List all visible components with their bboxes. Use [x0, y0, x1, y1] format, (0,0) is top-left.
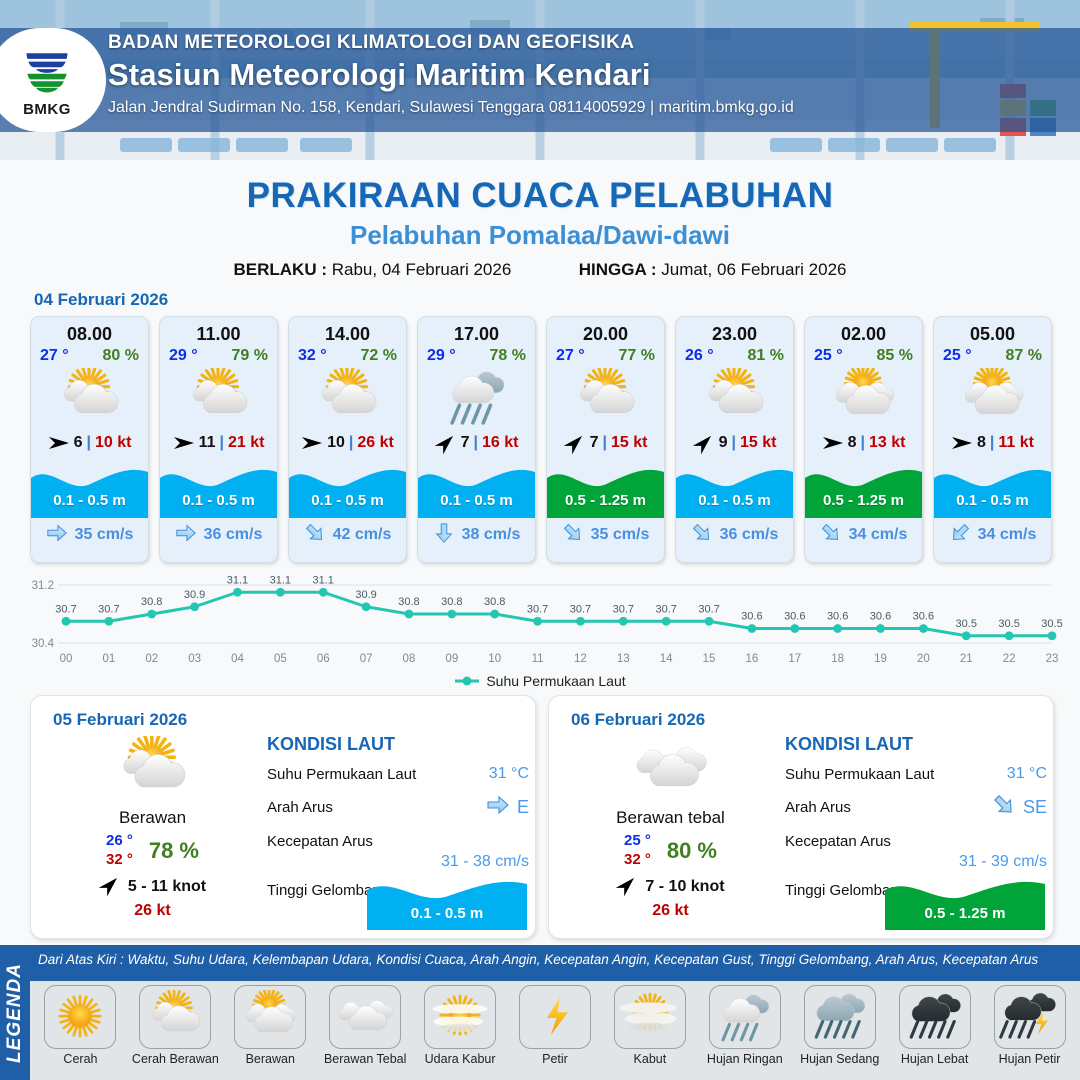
- hujan-ringan-icon: [418, 366, 535, 428]
- panel-current-dir-value: SE: [992, 793, 1047, 822]
- card-humidity: 77 %: [619, 347, 655, 365]
- card-separator: |: [473, 434, 477, 452]
- card-time: 14.00: [289, 324, 406, 345]
- panel-wave-value: 0.5 - 1.25 m: [885, 905, 1045, 922]
- svg-text:30.7: 30.7: [55, 603, 76, 615]
- card-temperature: 27 °: [556, 347, 585, 365]
- svg-text:30.9: 30.9: [184, 589, 205, 601]
- svg-text:16: 16: [746, 653, 759, 665]
- sst-chart: 31.230.430.70030.70130.80230.90331.10431…: [14, 571, 1066, 671]
- card-time: 23.00: [676, 324, 793, 345]
- panel-wind-direction-icon: [616, 876, 638, 899]
- daily-forecast-row: 05 Februari 2026 Berawan 26 ° 32 ° 78 % …: [0, 689, 1080, 939]
- svg-text:10: 10: [488, 653, 501, 665]
- svg-text:30.7: 30.7: [527, 603, 548, 615]
- panel-gust: 26 kt: [45, 902, 260, 920]
- legend-item: Berawan: [224, 985, 317, 1080]
- cerah-berawan-icon: [547, 366, 664, 428]
- panel-wind-direction-icon: [99, 876, 121, 899]
- panel-current-direction-icon: [486, 793, 510, 822]
- hujan-petir-icon: [994, 985, 1066, 1049]
- svg-text:22: 22: [1003, 653, 1016, 665]
- panel-temp-min: 25 °: [624, 832, 651, 851]
- card-current-speed: 36 cm/s: [720, 526, 779, 544]
- panel-current-speed-label: Kecepatan Arus: [785, 833, 891, 850]
- legend-item: Kabut: [603, 985, 696, 1080]
- card-current: 36 cm/s: [160, 518, 277, 552]
- card-current-speed: 35 cm/s: [75, 526, 134, 544]
- svg-text:31.2: 31.2: [32, 580, 54, 592]
- header-station-name: Stasiun Meteorologi Maritim Kendari: [108, 57, 928, 93]
- berawan-icon: [934, 366, 1051, 428]
- legend-item: Cerah Berawan: [129, 985, 222, 1080]
- card-current-speed: 35 cm/s: [591, 526, 650, 544]
- panel-date: 05 Februari 2026: [53, 710, 187, 730]
- card-humidity: 87 %: [1006, 347, 1042, 365]
- svg-text:20: 20: [917, 653, 930, 665]
- svg-text:30.8: 30.8: [484, 596, 505, 608]
- cerah-berawan-icon: [160, 366, 277, 428]
- legend-item-label: Berawan Tebal: [319, 1052, 412, 1066]
- wind-direction-icon: [301, 434, 323, 452]
- legend-item-label: Hujan Sedang: [793, 1052, 886, 1066]
- card-gust: 15 kt: [611, 434, 647, 452]
- card-time: 17.00: [418, 324, 535, 345]
- svg-text:30.8: 30.8: [398, 596, 419, 608]
- legend-item-label: Udara Kabur: [414, 1052, 507, 1066]
- card-temperature: 29 °: [427, 347, 456, 365]
- card-temperature: 32 °: [298, 347, 327, 365]
- wind-direction-icon: [564, 434, 586, 452]
- berawan-icon: [234, 985, 306, 1049]
- legend-note: Dari Atas Kiri : Waktu, Suhu Udara, Kele…: [38, 952, 1076, 967]
- card-humidity: 78 %: [490, 347, 526, 365]
- card-wind-speed: 10: [327, 434, 345, 452]
- svg-text:13: 13: [617, 653, 630, 665]
- forecast-card: 14.00 32 ° 72 % 10 | 26 kt 0.1 - 0.5 m 4…: [288, 316, 407, 563]
- card-time: 02.00: [805, 324, 922, 345]
- svg-text:19: 19: [874, 653, 887, 665]
- card-time: 05.00: [934, 324, 1051, 345]
- card-separator: |: [349, 434, 353, 452]
- card-current: 35 cm/s: [31, 518, 148, 552]
- legend-item-label: Cerah: [34, 1052, 127, 1066]
- card-wave-height: 0.1 - 0.5 m: [418, 492, 535, 509]
- current-direction-icon: [433, 522, 455, 549]
- legend-item: Hujan Lebat: [888, 985, 981, 1080]
- panel-wind-speed: 5 - 11 knot: [128, 878, 206, 896]
- svg-text:21: 21: [960, 653, 973, 665]
- card-current-speed: 34 cm/s: [849, 526, 908, 544]
- card-gust: 15 kt: [740, 434, 776, 452]
- card-wave-height: 0.1 - 0.5 m: [289, 492, 406, 509]
- legend-item-label: Hujan Ringan: [698, 1052, 791, 1066]
- svg-text:30.5: 30.5: [956, 618, 977, 630]
- card-wave: 0.1 - 0.5 m: [934, 460, 1051, 518]
- svg-text:30.6: 30.6: [784, 611, 805, 623]
- hujan-sedang-icon: [804, 985, 876, 1049]
- svg-text:30.7: 30.7: [655, 603, 676, 615]
- card-time: 11.00: [160, 324, 277, 345]
- svg-text:15: 15: [703, 653, 716, 665]
- card-wind: 7 | 15 kt: [547, 432, 664, 454]
- card-wave-height: 0.5 - 1.25 m: [547, 492, 664, 509]
- card-wind: 7 | 16 kt: [418, 432, 535, 454]
- card-wave: 0.1 - 0.5 m: [31, 460, 148, 518]
- panel-current-dir-value: E: [486, 793, 529, 822]
- panel-humidity: 78 %: [149, 838, 199, 864]
- card-wind-speed: 7: [461, 434, 470, 452]
- panel-current-dir-text: SE: [1023, 797, 1047, 818]
- daily-forecast-panel: 05 Februari 2026 Berawan 26 ° 32 ° 78 % …: [30, 695, 536, 939]
- card-time: 20.00: [547, 324, 664, 345]
- panel-current-speed-label: Kecepatan Arus: [267, 833, 373, 850]
- svg-text:30.6: 30.6: [827, 611, 848, 623]
- card-wind-speed: 8: [848, 434, 857, 452]
- card-separator: |: [990, 434, 994, 452]
- panel-current-speed-value: 31 - 39 cm/s: [785, 853, 1047, 871]
- legend-item-label: Cerah Berawan: [129, 1052, 222, 1066]
- card-temperature: 29 °: [169, 347, 198, 365]
- card-separator: |: [731, 434, 735, 452]
- page-subtitle: Pelabuhan Pomalaa/Dawi-dawi: [0, 220, 1080, 251]
- forecast-card: 23.00 26 ° 81 % 9 | 15 kt 0.1 - 0.5 m 36…: [675, 316, 794, 563]
- panel-sea-title: KONDISI LAUT: [785, 734, 1047, 755]
- panel-sst-label: Suhu Permukaan Laut: [267, 766, 416, 783]
- svg-text:17: 17: [788, 653, 801, 665]
- card-wind-speed: 6: [74, 434, 83, 452]
- svg-text:30.4: 30.4: [32, 638, 55, 650]
- panel-wave: 0.5 - 1.25 m: [885, 878, 1045, 930]
- card-current: 36 cm/s: [676, 518, 793, 552]
- card-separator: |: [86, 434, 90, 452]
- sst-chart-legend: Suhu Permukaan Laut: [0, 673, 1080, 689]
- legend-item: Hujan Ringan: [698, 985, 791, 1080]
- forecast-card: 17.00 29 ° 78 % 7 | 16 kt 0.1 - 0.5 m 38…: [417, 316, 536, 563]
- card-wind-speed: 9: [719, 434, 728, 452]
- card-wave-height: 0.1 - 0.5 m: [31, 492, 148, 509]
- svg-text:11: 11: [532, 653, 544, 665]
- bmkg-logo: BMKG: [0, 28, 106, 132]
- panel-condition: Berawan tebal: [563, 808, 778, 828]
- card-gust: 10 kt: [95, 434, 131, 452]
- card-temperature: 25 °: [814, 347, 843, 365]
- berawan-icon: [805, 366, 922, 428]
- svg-text:30.7: 30.7: [570, 603, 591, 615]
- forecast-card: 05.00 25 ° 87 % 8 | 11 kt 0.1 - 0.5 m 34…: [933, 316, 1052, 563]
- forecast-card: 08.00 27 ° 80 % 6 | 10 kt 0.1 - 0.5 m 35…: [30, 316, 149, 563]
- svg-text:02: 02: [145, 653, 158, 665]
- legend-item: Cerah: [34, 985, 127, 1080]
- berawan-tebal-icon: [329, 985, 401, 1049]
- cerah-berawan-icon: [45, 736, 260, 802]
- card-current: 34 cm/s: [805, 518, 922, 552]
- petir-icon: [519, 985, 591, 1049]
- card-gust: 26 kt: [357, 434, 393, 452]
- panel-current-direction-icon: [992, 793, 1016, 822]
- card-wave: 0.5 - 1.25 m: [805, 460, 922, 518]
- current-direction-icon: [562, 522, 584, 549]
- panel-sea-title: KONDISI LAUT: [267, 734, 529, 755]
- panel-wave: 0.1 - 0.5 m: [367, 878, 527, 930]
- svg-text:07: 07: [360, 653, 373, 665]
- legend-side-title: LEGENDA: [0, 945, 30, 1080]
- legend-item-label: Hujan Petir: [983, 1052, 1076, 1066]
- panel-wind-speed: 7 - 10 knot: [645, 878, 724, 896]
- berawan-tebal-icon: [563, 736, 778, 802]
- card-gust: 16 kt: [482, 434, 518, 452]
- card-wave-height: 0.1 - 0.5 m: [676, 492, 793, 509]
- card-separator: |: [219, 434, 223, 452]
- current-direction-icon: [175, 522, 197, 549]
- svg-text:31.1: 31.1: [270, 574, 291, 586]
- svg-text:30.7: 30.7: [613, 603, 634, 615]
- wind-direction-icon: [951, 434, 973, 452]
- card-separator: |: [602, 434, 606, 452]
- cerah-berawan-icon: [676, 366, 793, 428]
- svg-text:30.7: 30.7: [698, 603, 719, 615]
- berlaku-value: Rabu, 04 Februari 2026: [332, 260, 512, 279]
- card-current: 42 cm/s: [289, 518, 406, 552]
- sst-chart-svg: 31.230.430.70030.70130.80230.90331.10431…: [14, 571, 1066, 671]
- card-humidity: 72 %: [361, 347, 397, 365]
- card-humidity: 85 %: [877, 347, 913, 365]
- svg-text:01: 01: [102, 653, 115, 665]
- hujan-lebat-icon: [899, 985, 971, 1049]
- panel-current-dir-text: E: [517, 797, 529, 818]
- forecast-card: 20.00 27 ° 77 % 7 | 15 kt 0.5 - 1.25 m 3…: [546, 316, 665, 563]
- panel-sst-label: Suhu Permukaan Laut: [785, 766, 934, 783]
- svg-text:31.1: 31.1: [227, 574, 248, 586]
- card-wind: 11 | 21 kt: [160, 432, 277, 454]
- bmkg-logo-icon: [19, 42, 75, 100]
- forecast-date-label: 04 Februari 2026: [34, 290, 1080, 310]
- card-current-speed: 36 cm/s: [204, 526, 263, 544]
- card-time: 08.00: [31, 324, 148, 345]
- card-wind: 9 | 15 kt: [676, 432, 793, 454]
- wind-direction-icon: [48, 434, 70, 452]
- svg-text:30.6: 30.6: [870, 611, 891, 623]
- card-current-speed: 34 cm/s: [978, 526, 1037, 544]
- header-address: Jalan Jendral Sudirman No. 158, Kendari,…: [108, 99, 928, 117]
- svg-text:03: 03: [188, 653, 201, 665]
- legend-item: Berawan Tebal: [319, 985, 412, 1080]
- card-wave-height: 0.5 - 1.25 m: [805, 492, 922, 509]
- panel-sst-value: 31 °C: [489, 765, 529, 783]
- panel-current-dir-label: Arah Arus: [785, 799, 851, 816]
- card-wind: 10 | 26 kt: [289, 432, 406, 454]
- panel-current-dir-label: Arah Arus: [267, 799, 333, 816]
- bmkg-logo-text: BMKG: [23, 101, 71, 118]
- legend-section: LEGENDA Dari Atas Kiri : Waktu, Suhu Uda…: [0, 945, 1080, 1080]
- panel-humidity: 80 %: [667, 838, 717, 864]
- cerah-berawan-icon: [139, 985, 211, 1049]
- svg-text:08: 08: [403, 653, 416, 665]
- svg-text:12: 12: [574, 653, 587, 665]
- forecast-card: 02.00 25 ° 85 % 8 | 13 kt 0.5 - 1.25 m 3…: [804, 316, 923, 563]
- hingga-label: HINGGA :: [579, 260, 657, 279]
- svg-text:30.5: 30.5: [1041, 618, 1062, 630]
- svg-text:30.9: 30.9: [355, 589, 376, 601]
- wind-direction-icon: [822, 434, 844, 452]
- header-organization: BADAN METEOROLOGI KLIMATOLOGI DAN GEOFIS…: [108, 32, 928, 54]
- legend-item-label: Hujan Lebat: [888, 1052, 981, 1066]
- card-wind: 8 | 13 kt: [805, 432, 922, 454]
- card-wave-height: 0.1 - 0.5 m: [934, 492, 1051, 509]
- panel-date: 06 Februari 2026: [571, 710, 705, 730]
- legend-item: Udara Kabur: [414, 985, 507, 1080]
- card-gust: 11 kt: [998, 434, 1034, 452]
- card-wind-speed: 11: [199, 434, 216, 452]
- svg-text:30.6: 30.6: [913, 611, 934, 623]
- legend-item: Hujan Sedang: [793, 985, 886, 1080]
- wind-direction-icon: [693, 434, 715, 452]
- cerah-berawan-icon: [31, 366, 148, 428]
- card-temperature: 27 °: [40, 347, 69, 365]
- svg-text:18: 18: [831, 653, 844, 665]
- legend-item-label: Berawan: [224, 1052, 317, 1066]
- card-wave: 0.5 - 1.25 m: [547, 460, 664, 518]
- hourly-forecast-row: 08.00 27 ° 80 % 6 | 10 kt 0.1 - 0.5 m 35…: [0, 310, 1080, 563]
- card-humidity: 80 %: [103, 347, 139, 365]
- card-gust: 13 kt: [869, 434, 905, 452]
- card-current-speed: 42 cm/s: [333, 526, 392, 544]
- udara-kabur-icon: [424, 985, 496, 1049]
- panel-sst-value: 31 °C: [1007, 765, 1047, 783]
- svg-text:00: 00: [60, 653, 73, 665]
- svg-text:06: 06: [317, 653, 330, 665]
- cerah-berawan-icon: [289, 366, 406, 428]
- page-header: BMKG BADAN METEOROLOGI KLIMATOLOGI DAN G…: [0, 0, 1080, 160]
- card-wave-height: 0.1 - 0.5 m: [160, 492, 277, 509]
- card-current: 35 cm/s: [547, 518, 664, 552]
- current-direction-icon: [949, 522, 971, 549]
- sst-legend-label: Suhu Permukaan Laut: [486, 673, 625, 689]
- card-humidity: 81 %: [748, 347, 784, 365]
- card-gust: 21 kt: [228, 434, 264, 452]
- card-wave: 0.1 - 0.5 m: [418, 460, 535, 518]
- card-humidity: 79 %: [232, 347, 268, 365]
- sst-legend-marker-icon: [454, 675, 480, 687]
- legend-item: Petir: [509, 985, 602, 1080]
- panel-temp-min: 26 °: [106, 832, 133, 851]
- card-wave: 0.1 - 0.5 m: [289, 460, 406, 518]
- svg-text:30.8: 30.8: [141, 596, 162, 608]
- berlaku-label: BERLAKU :: [234, 260, 328, 279]
- card-temperature: 26 °: [685, 347, 714, 365]
- hingga-value: Jumat, 06 Februari 2026: [661, 260, 846, 279]
- card-wave: 0.1 - 0.5 m: [160, 460, 277, 518]
- kabut-icon: [614, 985, 686, 1049]
- card-wind: 8 | 11 kt: [934, 432, 1051, 454]
- card-wind: 6 | 10 kt: [31, 432, 148, 454]
- daily-forecast-panel: 06 Februari 2026 Berawan tebal 25 ° 32 °…: [548, 695, 1054, 939]
- legend-items-strip: Cerah Cerah Berawan Berawan Berawan Teba…: [30, 981, 1080, 1080]
- legend-item-label: Petir: [509, 1052, 602, 1066]
- svg-text:30.7: 30.7: [98, 603, 119, 615]
- panel-gust: 26 kt: [563, 902, 778, 920]
- validity-period: BERLAKU : Rabu, 04 Februari 2026 HINGGA …: [0, 260, 1080, 280]
- current-direction-icon: [46, 522, 68, 549]
- forecast-card: 11.00 29 ° 79 % 11 | 21 kt 0.1 - 0.5 m 3…: [159, 316, 278, 563]
- svg-text:09: 09: [445, 653, 458, 665]
- panel-wave-value: 0.1 - 0.5 m: [367, 905, 527, 922]
- svg-text:30.5: 30.5: [998, 618, 1019, 630]
- legend-side-title-text: LEGENDA: [4, 963, 26, 1063]
- panel-current-speed-value: 31 - 38 cm/s: [267, 853, 529, 871]
- panel-wind: 5 - 11 knot: [45, 876, 260, 899]
- svg-text:04: 04: [231, 653, 244, 665]
- wind-direction-icon: [435, 434, 457, 452]
- card-wind-speed: 7: [590, 434, 599, 452]
- card-wind-speed: 8: [977, 434, 986, 452]
- card-separator: |: [860, 434, 864, 452]
- svg-text:31.1: 31.1: [313, 574, 334, 586]
- panel-wind: 7 - 10 knot: [563, 876, 778, 899]
- card-current: 38 cm/s: [418, 518, 535, 552]
- page-title: PRAKIRAAN CUACA PELABUHAN: [0, 176, 1080, 216]
- svg-text:14: 14: [660, 653, 673, 665]
- svg-text:05: 05: [274, 653, 287, 665]
- legend-item: Hujan Petir: [983, 985, 1076, 1080]
- panel-condition: Berawan: [45, 808, 260, 828]
- legend-item-label: Kabut: [603, 1052, 696, 1066]
- svg-text:23: 23: [1046, 653, 1059, 665]
- card-current-speed: 38 cm/s: [462, 526, 521, 544]
- cerah-icon: [44, 985, 116, 1049]
- hujan-ringan-icon: [709, 985, 781, 1049]
- card-wave: 0.1 - 0.5 m: [676, 460, 793, 518]
- panel-temp-max: 32 °: [106, 851, 133, 870]
- svg-text:30.6: 30.6: [741, 611, 762, 623]
- svg-text:30.8: 30.8: [441, 596, 462, 608]
- current-direction-icon: [691, 522, 713, 549]
- wind-direction-icon: [173, 434, 195, 452]
- current-direction-icon: [304, 522, 326, 549]
- card-temperature: 25 °: [943, 347, 972, 365]
- panel-temp-max: 32 °: [624, 851, 651, 870]
- card-current: 34 cm/s: [934, 518, 1051, 552]
- current-direction-icon: [820, 522, 842, 549]
